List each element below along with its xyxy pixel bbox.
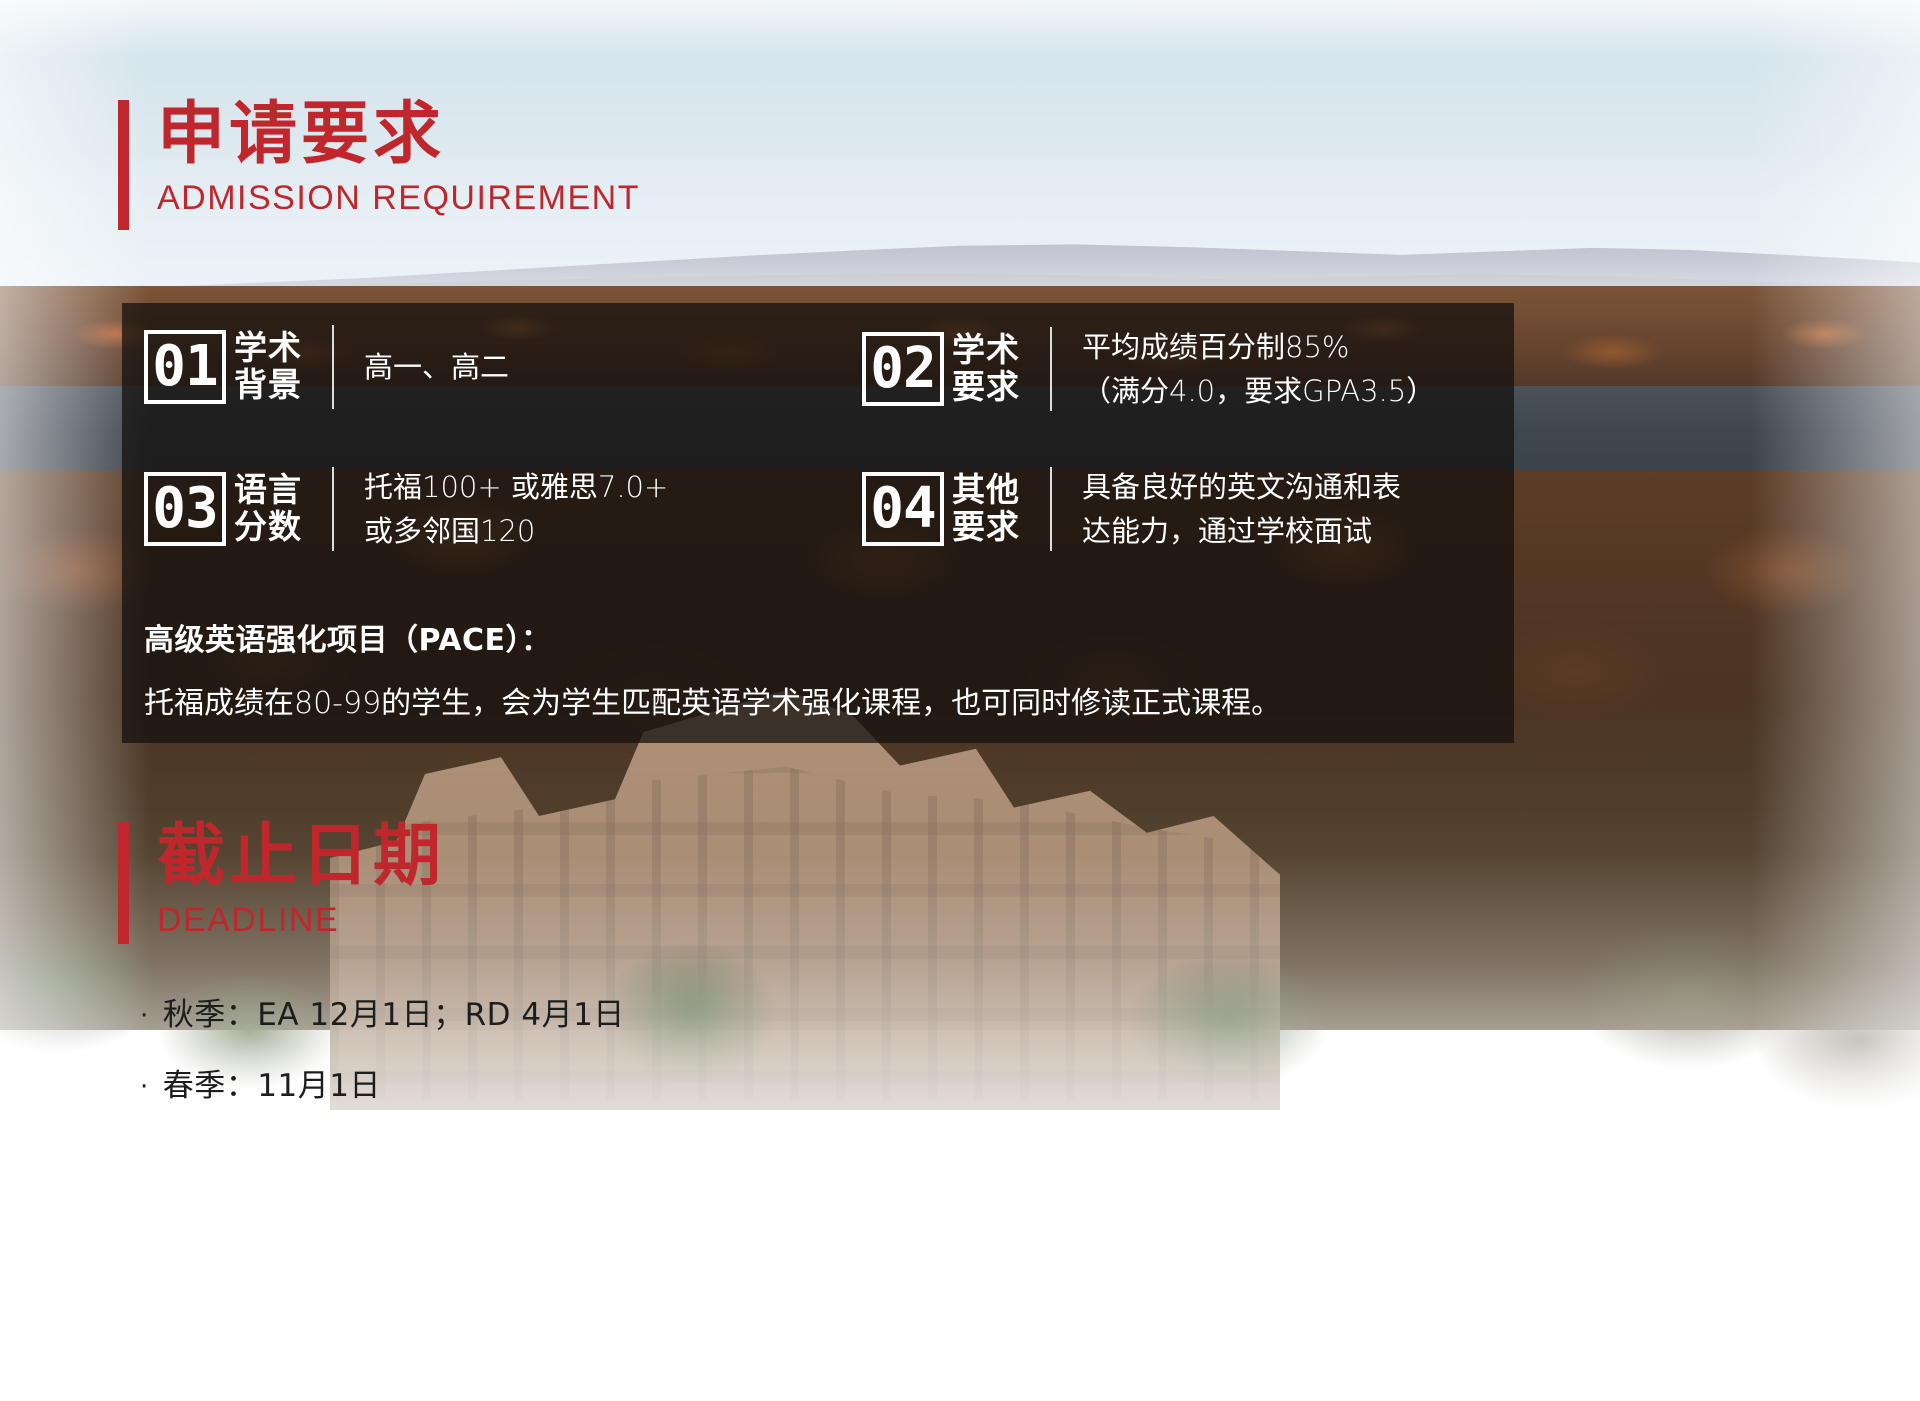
card-title-line2: 要求 xyxy=(952,369,1020,406)
number-label: 01 xyxy=(152,339,217,395)
requirement-card-03: 03 语言 分数 托福100+ 或雅思7.0+ 或多邻国120 xyxy=(144,465,668,553)
card-body-line1: 托福100+ 或雅思7.0+ xyxy=(364,465,668,509)
vertical-divider xyxy=(1050,327,1052,411)
card-body: 高一、高二 xyxy=(364,345,509,389)
requirement-cards: 01 学术 背景 高一、高二 02 学术 要求 xyxy=(122,303,1514,603)
card-body-line2: （满分4.0，要求GPA3.5） xyxy=(1082,369,1435,413)
card-title: 学术 背景 xyxy=(234,330,302,404)
accent-bar-icon xyxy=(118,100,129,230)
deadline-heading: 截止日期 DEADLINE xyxy=(118,822,445,944)
number-badge: 01 xyxy=(144,330,226,404)
list-item-label: 春季：11月1日 xyxy=(163,1071,381,1102)
deadline-subtitle: DEADLINE xyxy=(157,901,445,940)
card-title-line2: 要求 xyxy=(952,509,1020,546)
requirement-card-02: 02 学术 要求 平均成绩百分制85% （满分4.0，要求GPA3.5） xyxy=(862,325,1435,413)
card-title-line1: 其他 xyxy=(952,472,1020,509)
number-label: 04 xyxy=(870,481,935,537)
number-badge: 02 xyxy=(862,332,944,406)
card-title: 其他 要求 xyxy=(952,472,1020,546)
card-title-line2: 背景 xyxy=(234,367,302,404)
number-label: 03 xyxy=(152,481,217,537)
page-content: 申请要求 ADMISSION REQUIREMENT 01 学术 背景 高一、高… xyxy=(0,0,1920,1401)
card-body: 托福100+ 或雅思7.0+ 或多邻国120 xyxy=(364,465,668,553)
card-title: 学术 要求 xyxy=(952,332,1020,406)
card-title-line1: 学术 xyxy=(234,330,302,367)
card-body-line1: 具备良好的英文沟通和表 xyxy=(1082,465,1401,509)
admission-heading: 申请要求 ADMISSION REQUIREMENT xyxy=(118,100,640,230)
pace-text: 托福成绩在80-99的学生，会为学生匹配英语学术强化课程，也可同时修读正式课程。 xyxy=(144,683,1444,725)
number-badge: 04 xyxy=(862,472,944,546)
bullet-icon: · xyxy=(140,1074,149,1100)
requirement-card-01: 01 学术 背景 高一、高二 xyxy=(144,325,509,409)
card-title-line2: 分数 xyxy=(234,509,302,546)
list-item: · 秋季：EA 12月1日；RD 4月1日 xyxy=(140,1000,625,1031)
card-body-line1: 高一、高二 xyxy=(364,345,509,389)
vertical-divider xyxy=(1050,467,1052,551)
card-title-line1: 学术 xyxy=(952,332,1020,369)
vertical-divider xyxy=(332,467,334,551)
card-body-line1: 平均成绩百分制85% xyxy=(1082,325,1435,369)
bullet-icon: · xyxy=(140,1003,149,1029)
card-title: 语言 分数 xyxy=(234,472,302,546)
pace-note: 高级英语强化项目（PACE）： 托福成绩在80-99的学生，会为学生匹配英语学术… xyxy=(144,615,1444,725)
accent-bar-icon xyxy=(118,822,129,944)
requirement-card-04: 04 其他 要求 具备良好的英文沟通和表 达能力，通过学校面试 xyxy=(862,465,1401,553)
card-body-line2: 达能力，通过学校面试 xyxy=(1082,509,1401,553)
pace-title: 高级英语强化项目（PACE）： xyxy=(144,615,1444,659)
card-body: 平均成绩百分制85% （满分4.0，要求GPA3.5） xyxy=(1082,325,1435,413)
card-body: 具备良好的英文沟通和表 达能力，通过学校面试 xyxy=(1082,465,1401,553)
list-item: · 春季：11月1日 xyxy=(140,1071,625,1102)
list-item-label: 秋季：EA 12月1日；RD 4月1日 xyxy=(163,1000,625,1031)
card-title-line1: 语言 xyxy=(234,472,302,509)
deadline-list: · 秋季：EA 12月1日；RD 4月1日 · 春季：11月1日 xyxy=(140,1000,625,1142)
number-label: 02 xyxy=(870,341,935,397)
page-title: 申请要求 xyxy=(157,100,640,169)
vertical-divider xyxy=(332,325,334,409)
deadline-title: 截止日期 xyxy=(157,822,445,891)
card-body-line2: 或多邻国120 xyxy=(364,509,668,553)
page-subtitle: ADMISSION REQUIREMENT xyxy=(157,179,640,218)
number-badge: 03 xyxy=(144,472,226,546)
